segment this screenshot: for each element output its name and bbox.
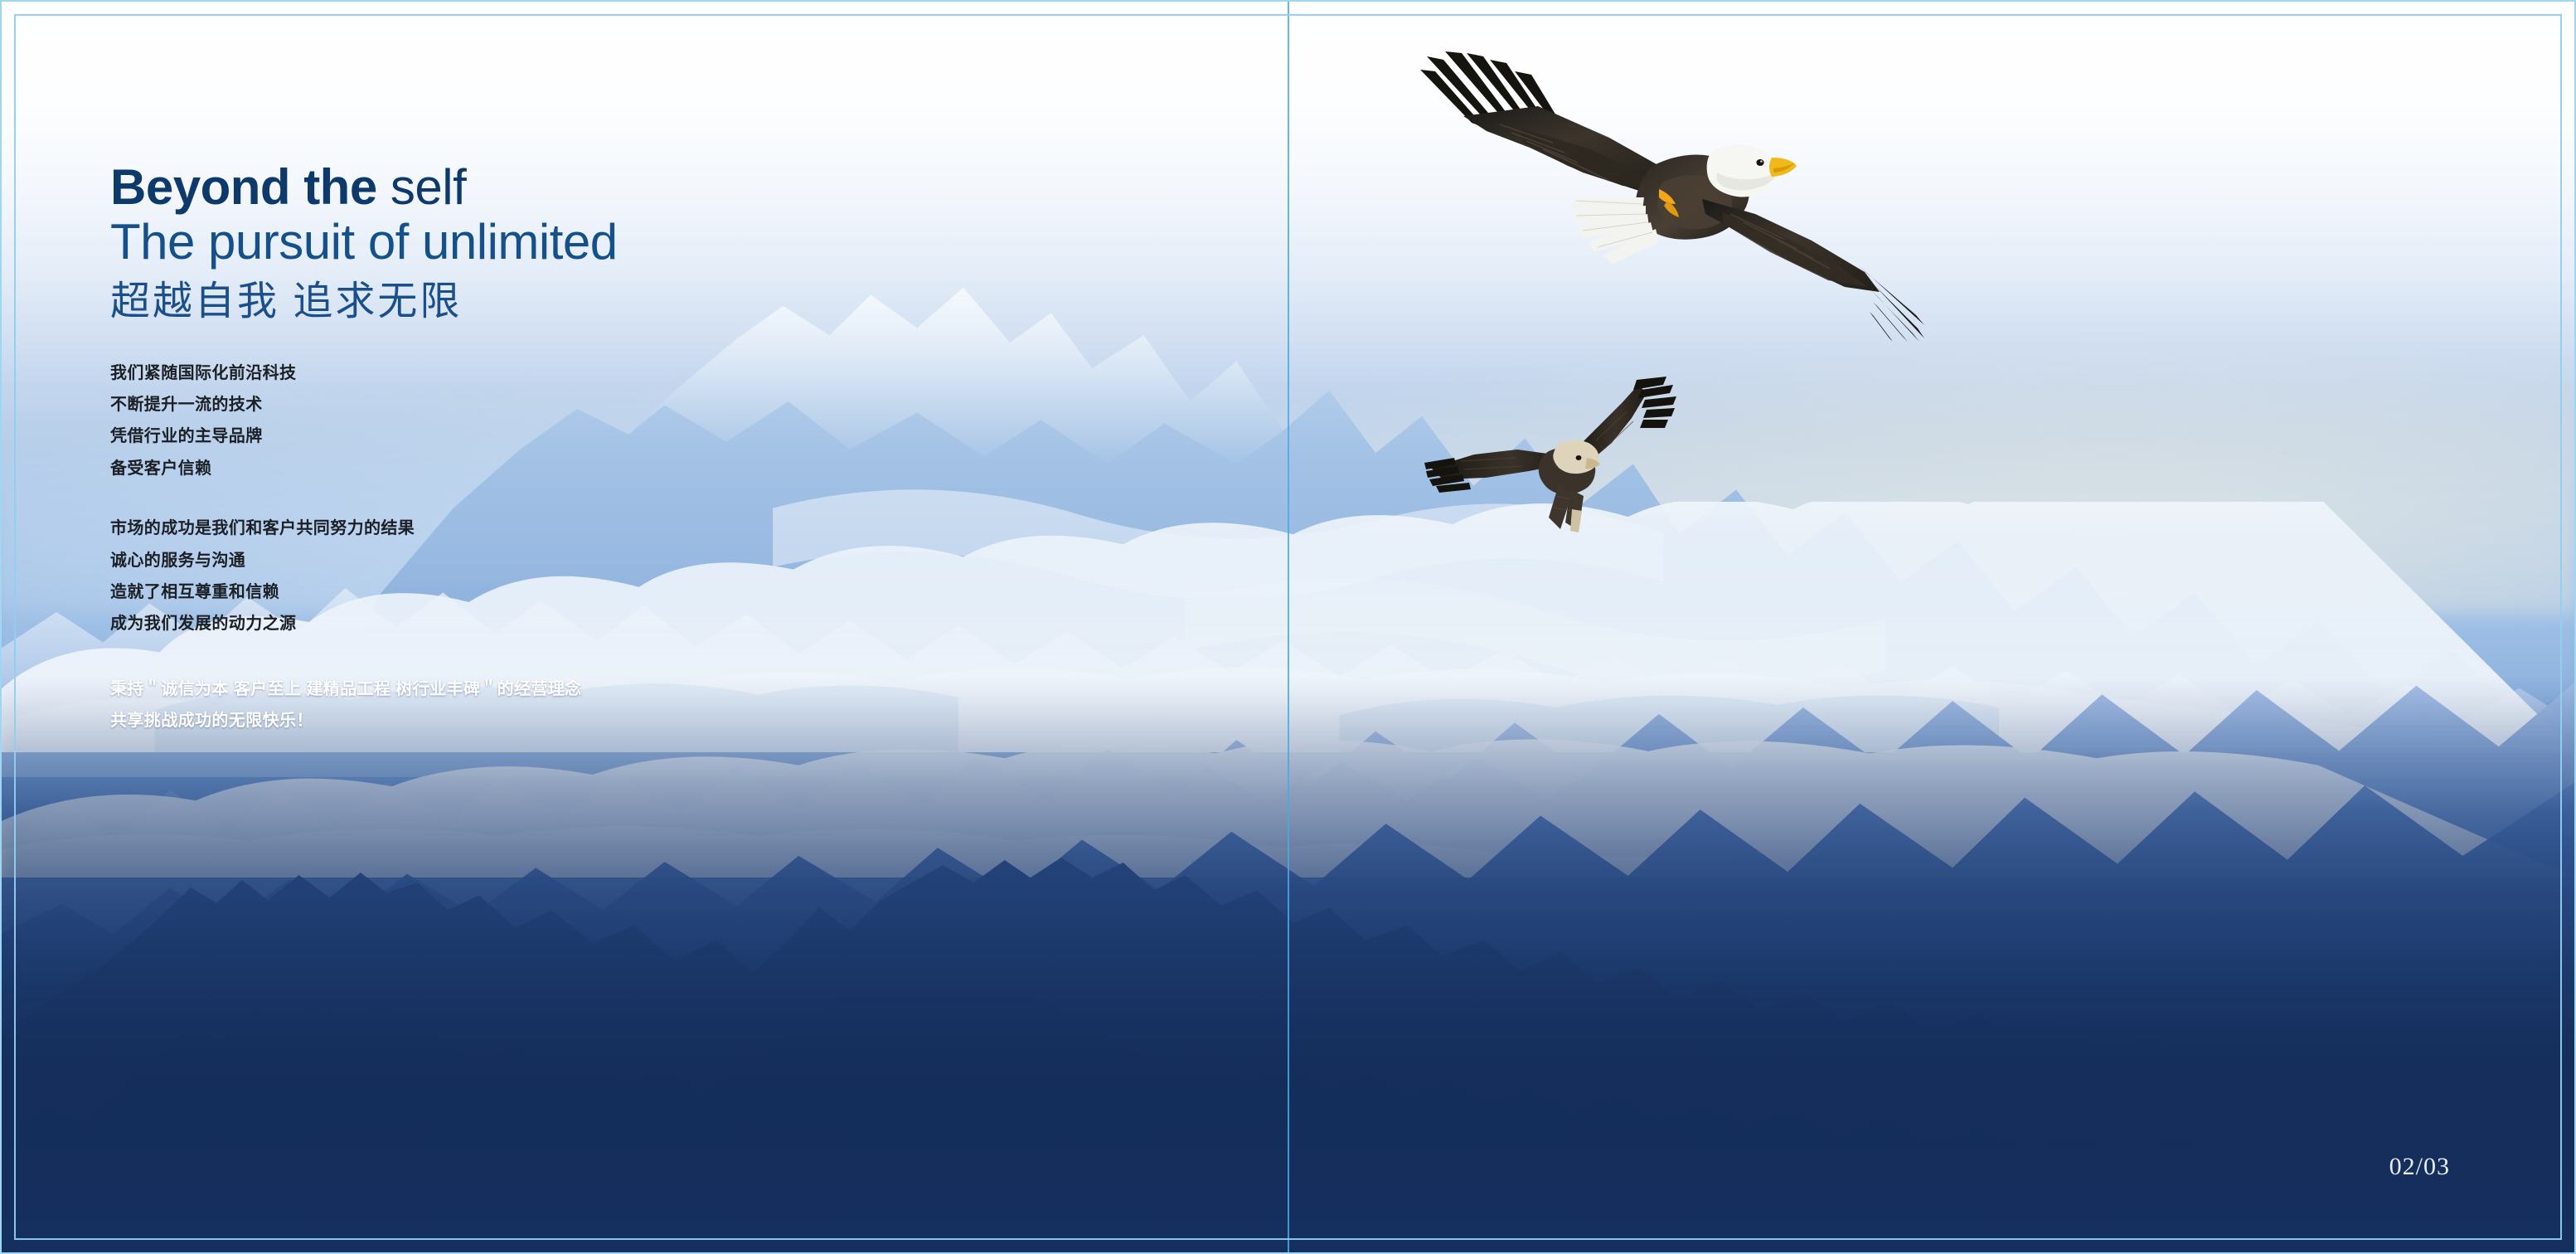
headline-english-line1: Beyond the self [110,163,1022,212]
headline-english-line2: The pursuit of unlimited [110,214,1022,270]
paragraph-line: 诚心的服务与沟通 [110,545,1022,576]
paragraph-line: 造就了相互尊重和信赖 [110,576,1022,608]
bottom-navy-fade [0,677,2576,1254]
paragraph-line: 凭借行业的主导品牌 [110,420,1022,452]
paragraph-block-2: 市场的成功是我们和客户共同努力的结果 诚心的服务与沟通 造就了相互尊重和信赖 成… [110,513,1022,640]
paragraph-line: 秉持＂诚信为本 客户至上 建精品工程 树行业丰碑＂的经营理念 [110,673,1022,705]
paragraph-line: 我们紧随国际化前沿科技 [110,357,1022,389]
copy-block: Beyond the self The pursuit of unlimited… [110,163,1022,737]
headline-bold: Beyond the [110,159,377,215]
headline-chinese: 超越自我 追求无限 [110,276,1022,327]
paragraph-block-3: 秉持＂诚信为本 客户至上 建精品工程 树行业丰碑＂的经营理念 共享挑战成功的无限… [110,673,1022,737]
paragraph-block-1: 我们紧随国际化前沿科技 不断提升一流的技术 凭借行业的主导品牌 备受客户信赖 [110,357,1022,485]
headline-light: self [391,159,466,215]
paragraph-line: 市场的成功是我们和客户共同努力的结果 [110,513,1022,544]
paragraph-line: 备受客户信赖 [110,453,1022,484]
brochure-spread: Beyond the self The pursuit of unlimited… [0,0,2576,1254]
paragraph-line: 共享挑战成功的无限快乐！ [110,705,1022,736]
eagle-small [1424,375,1716,537]
page-number: 02/03 [2389,1153,2450,1181]
eagle-large [1414,51,1928,342]
paragraph-line: 成为我们发展的动力之源 [110,608,1022,639]
paragraph-line: 不断提升一流的技术 [110,389,1022,420]
